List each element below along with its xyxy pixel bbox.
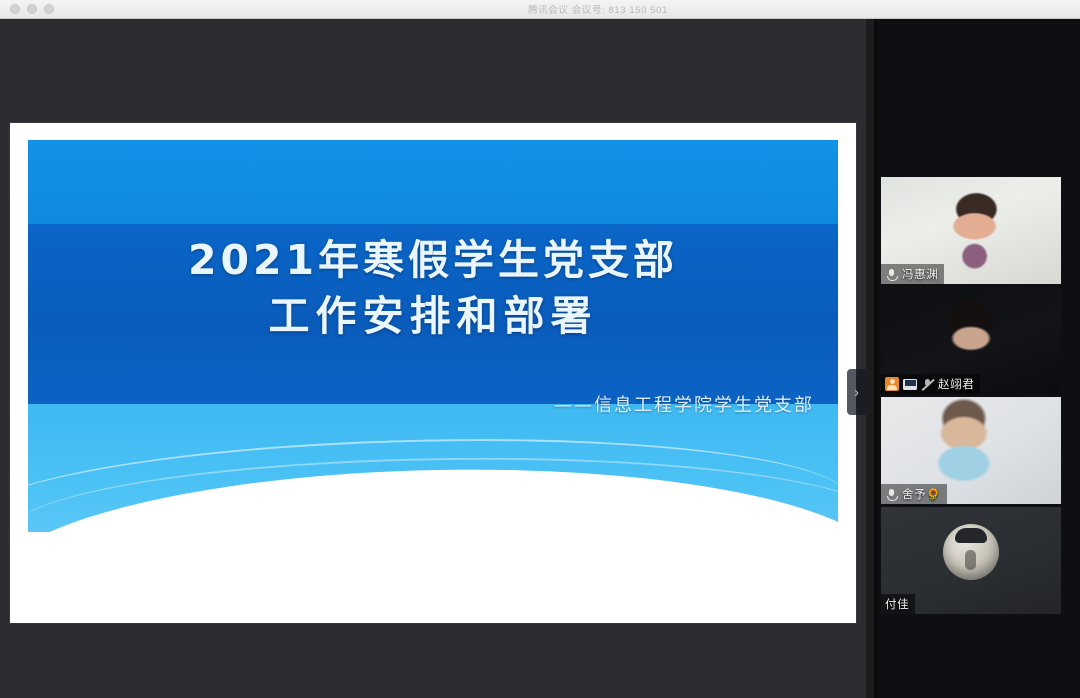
slide-canvas: 2021年寒假学生党支部 工作安排和部署 ——信息工程学院学生党支部 牛气冲天 … bbox=[28, 140, 838, 606]
stage-right-edge bbox=[866, 19, 874, 698]
slide-band-top bbox=[28, 140, 838, 224]
maximize-button[interactable] bbox=[44, 4, 54, 14]
participant-tile-1[interactable]: 冯惠渊 bbox=[881, 177, 1061, 284]
meeting-title: 腾讯会议 会议号: 813 150 501 bbox=[58, 2, 1080, 16]
mic-muted-icon bbox=[921, 378, 934, 391]
participant-tile-4[interactable]: 付佳 bbox=[881, 507, 1061, 614]
slide-footer-area bbox=[28, 532, 838, 606]
participant-tile-3[interactable]: 舍予🌻 bbox=[881, 397, 1061, 504]
slide-title-line-2: 工作安排和部署 bbox=[28, 288, 838, 344]
slide-title: 2021年寒假学生党支部 工作安排和部署 bbox=[28, 232, 838, 344]
window-controls[interactable] bbox=[10, 4, 54, 14]
participant-nameplate-4: 付佳 bbox=[881, 594, 915, 614]
chevron-right-icon[interactable]: › bbox=[847, 369, 866, 415]
participant-nameplate-3: 舍予🌻 bbox=[881, 484, 947, 504]
close-button[interactable] bbox=[10, 4, 20, 14]
avatar bbox=[943, 524, 999, 580]
mic-icon bbox=[885, 268, 898, 281]
minimize-button[interactable] bbox=[27, 4, 37, 14]
slide-subtitle: ——信息工程学院学生党支部 bbox=[554, 391, 814, 417]
slide-title-line-1: 2021年寒假学生党支部 bbox=[188, 236, 678, 284]
participant-nameplate-2: 赵翊君 bbox=[881, 374, 980, 394]
window-titlebar: 腾讯会议 会议号: 813 150 501 bbox=[0, 0, 1080, 19]
mic-icon bbox=[885, 488, 898, 501]
participant-tile-2[interactable]: 赵翊君 bbox=[881, 287, 1061, 394]
participant-video-panel: 冯惠渊 赵翊君 舍予🌻 付佳 bbox=[878, 19, 1080, 698]
screen-share-icon bbox=[903, 379, 917, 390]
participant-name-3: 舍予🌻 bbox=[902, 486, 941, 502]
participant-nameplate-1: 冯惠渊 bbox=[881, 264, 944, 284]
host-icon bbox=[885, 377, 899, 391]
tencent-meeting-window: 腾讯会议 会议号: 813 150 501 2021年寒假学生党支部 工作安排和… bbox=[0, 0, 1080, 698]
participant-name-1: 冯惠渊 bbox=[902, 266, 938, 282]
participant-name-2: 赵翊君 bbox=[938, 376, 974, 392]
shared-screen-stage[interactable]: 2021年寒假学生党支部 工作安排和部署 ——信息工程学院学生党支部 牛气冲天 … bbox=[0, 19, 874, 698]
presentation-slide: 2021年寒假学生党支部 工作安排和部署 ——信息工程学院学生党支部 牛气冲天 … bbox=[10, 123, 856, 623]
participant-name-4: 付佳 bbox=[885, 596, 909, 612]
